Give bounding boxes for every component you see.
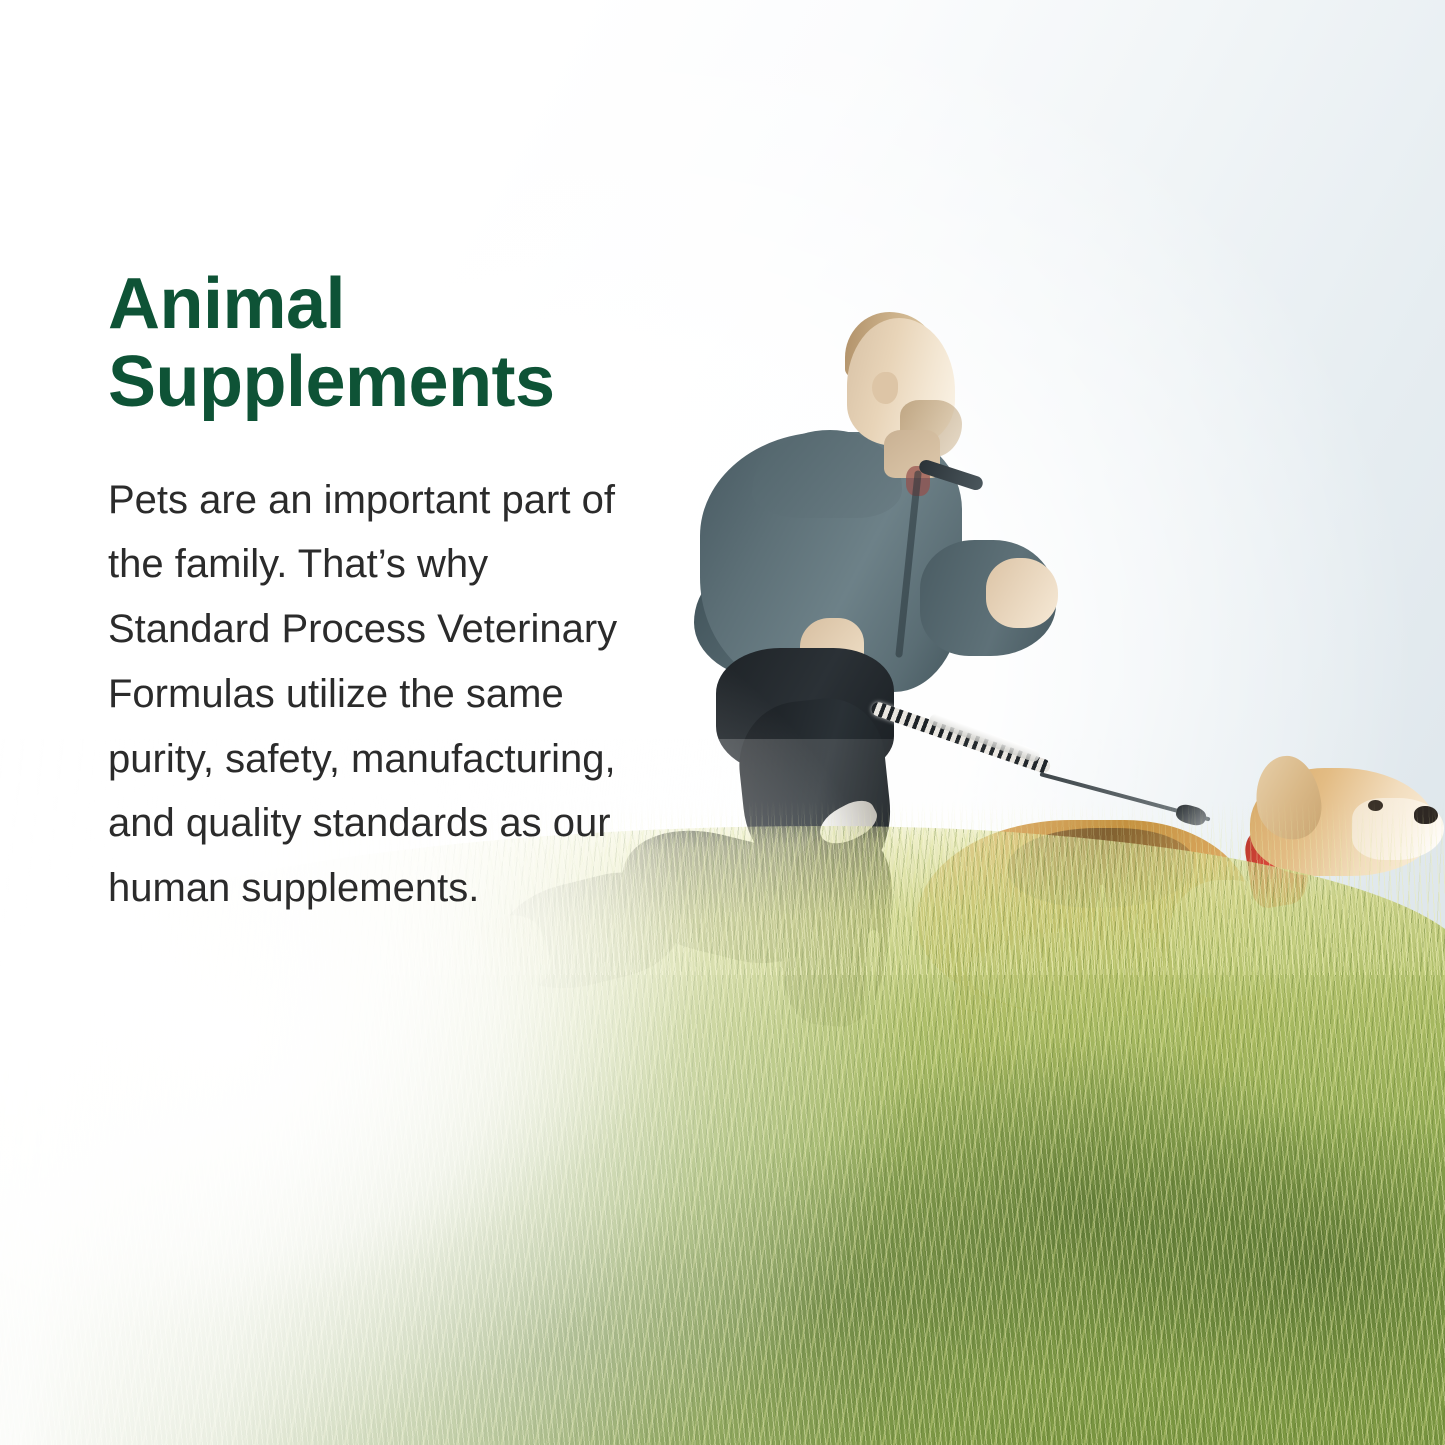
promo-image-canvas: Animal Supplements Pets are an important…: [0, 0, 1445, 1445]
page-title-line-2: Supplements: [108, 344, 668, 422]
text-block: Animal Supplements Pets are an important…: [108, 266, 668, 921]
page-title-line-1: Animal: [108, 266, 668, 344]
page-title: Animal Supplements: [108, 266, 668, 422]
body-paragraph: Pets are an important part of the family…: [108, 422, 648, 922]
